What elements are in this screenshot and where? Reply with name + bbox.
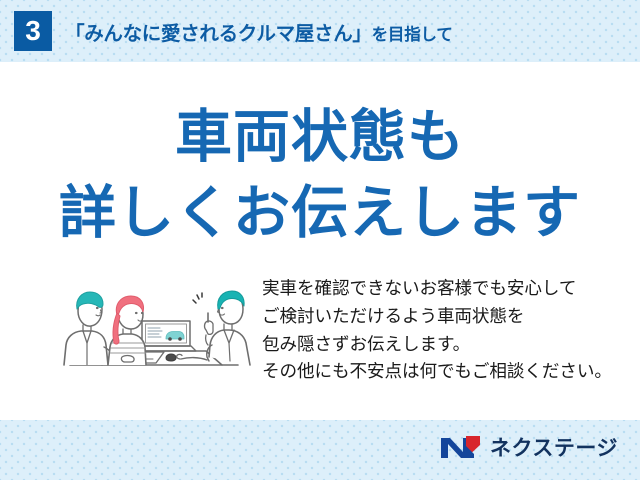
body-line-3: 包み隠さずお伝えします。: [262, 331, 624, 359]
body-paragraph: 実車を確認できないお客様でも安心して ご検討いただけるよう車両状態を 包み隠さず…: [262, 275, 624, 386]
step-number-badge: 3: [14, 11, 52, 51]
promo-banner: 3 「みんなに愛されるクルマ屋さん」を目指して 車両状態も 詳しくお伝えします: [0, 0, 640, 480]
header-title-main: 「みんなに愛されるクルマ屋さん」: [65, 17, 372, 46]
nextage-logo: ネクステージ: [439, 432, 618, 462]
headline: 車両状態も 詳しくお伝えします: [0, 100, 640, 252]
content-panel: 車両状態も 詳しくお伝えします: [0, 62, 640, 420]
body-line-4: その他にも不安点は何でもご相談ください。: [262, 358, 624, 386]
consultation-illustration-svg: [56, 273, 252, 377]
lower-content-row: 実車を確認できないお客様でも安心して ご検討いただけるよう車両状態を 包み隠さず…: [0, 270, 640, 410]
headline-line-2: 詳しくお伝えします: [0, 176, 640, 252]
headline-line-1: 車両状態も: [0, 100, 640, 176]
consultation-illustration: [56, 273, 252, 377]
body-line-2: ご検討いただけるよう車両状態を: [262, 303, 624, 331]
nextage-logo-mark-icon: [439, 432, 483, 462]
header-title-tail: を目指して: [372, 21, 453, 45]
banner-header: 3 「みんなに愛されるクルマ屋さん」を目指して: [0, 0, 640, 62]
body-line-1: 実車を確認できないお客様でも安心して: [262, 275, 624, 303]
banner-footer: ネクステージ: [0, 420, 640, 480]
nextage-logo-text: ネクステージ: [490, 432, 618, 462]
header-title: 「みんなに愛されるクルマ屋さん」を目指して: [65, 17, 453, 46]
